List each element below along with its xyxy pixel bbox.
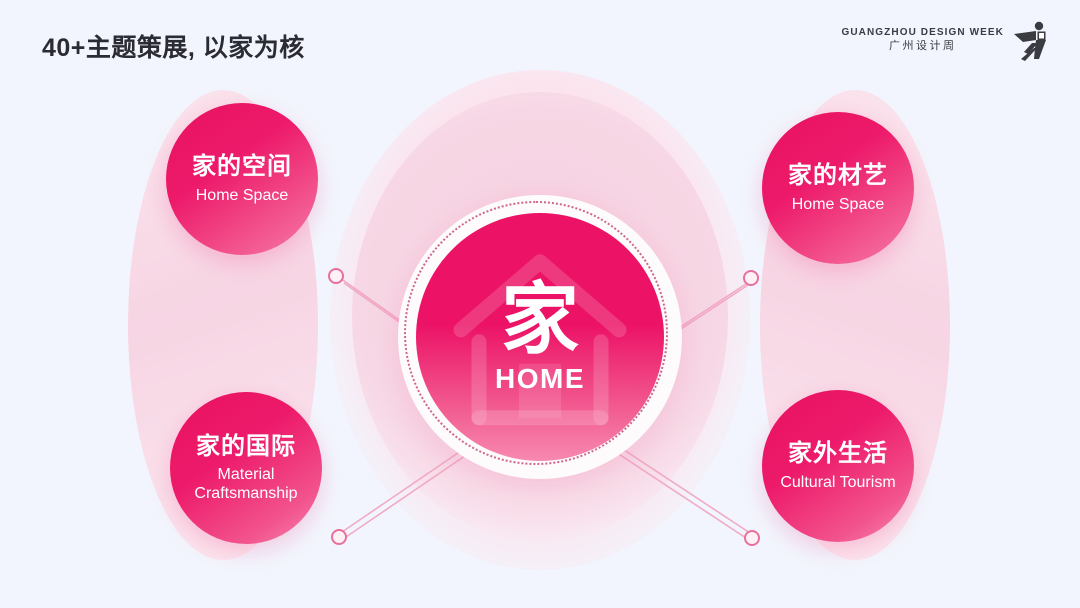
center-node[interactable]: 家 HOME xyxy=(398,195,682,479)
node-home-materials[interactable]: 家的材艺 Home Space xyxy=(762,112,914,264)
center-node-circle: 家 HOME xyxy=(416,213,664,461)
brand-logo-text: GUANGZHOU DESIGN WEEK 广州设计周 xyxy=(841,26,1004,54)
center-label-en: HOME xyxy=(495,365,585,393)
node-home-space[interactable]: 家的空间 Home Space xyxy=(166,103,318,255)
brand-name-cn: 广州设计周 xyxy=(889,39,957,54)
node-label-cn: 家的空间 xyxy=(192,153,292,181)
node-label-en: Cultural Tourism xyxy=(780,473,895,492)
center-label-cn: 家 xyxy=(501,281,579,359)
connector-ring-bottom-right xyxy=(744,530,760,546)
connector-ring-top-left xyxy=(328,268,344,284)
diagram-stage: 家 HOME 家的空间 Home Space 家的材艺 Home Space 家… xyxy=(0,70,1080,608)
node-home-international[interactable]: 家的国际 Material Craftsmanship xyxy=(170,392,322,544)
connector-line-bottom-right-2 xyxy=(608,447,746,538)
brand-logo: GUANGZHOU DESIGN WEEK 广州设计周 xyxy=(841,18,1052,62)
node-label-cn: 家的国际 xyxy=(196,433,296,461)
node-label-cn: 家的材艺 xyxy=(788,162,888,190)
node-label-cn: 家外生活 xyxy=(788,440,888,468)
connector-ring-top-right xyxy=(743,270,759,286)
connector-line-bottom-left-2 xyxy=(346,447,478,537)
node-label-en: Home Space xyxy=(196,186,289,205)
connector-line-bottom-right xyxy=(612,442,750,533)
connector-ring-bottom-left xyxy=(331,529,347,545)
page-title: 40+主题策展, 以家为核 xyxy=(42,28,305,64)
node-label-en: Home Space xyxy=(792,195,885,214)
node-cultural-tourism[interactable]: 家外生活 Cultural Tourism xyxy=(762,390,914,542)
connector-line-bottom-left xyxy=(342,442,474,532)
brand-name-en: GUANGZHOU DESIGN WEEK xyxy=(841,26,1004,40)
leaping-figure-logo-icon xyxy=(1012,18,1052,62)
node-label-en: Material Craftsmanship xyxy=(180,465,312,503)
